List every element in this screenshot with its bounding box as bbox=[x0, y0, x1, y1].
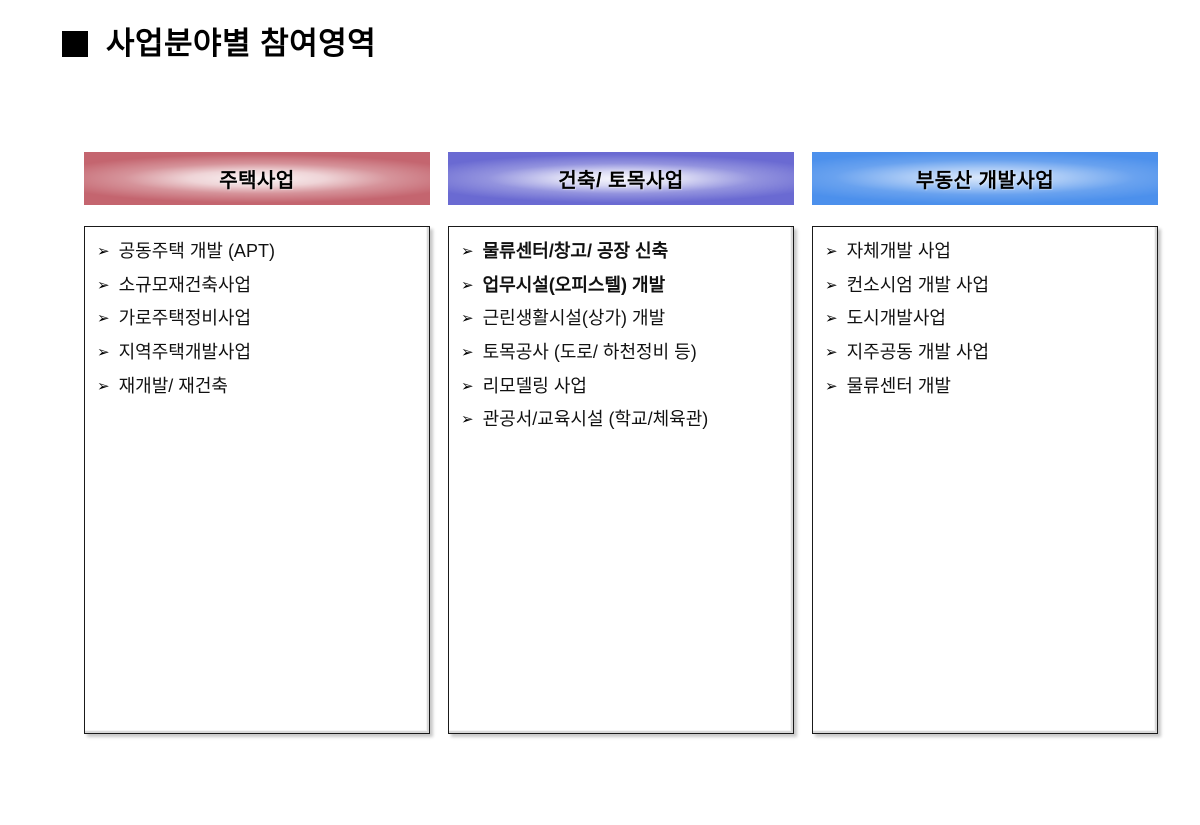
list-item-label: 가로주택정비사업 bbox=[119, 308, 251, 329]
list-item-label: 관공서/교육시설 (학교/체육관) bbox=[483, 409, 709, 430]
header-body-spacer bbox=[84, 205, 430, 226]
page-title-text: 사업분야별 참여영역 bbox=[106, 28, 376, 59]
arrow-bullet-icon: ➢ bbox=[461, 244, 474, 259]
list-item[interactable]: ➢ 리모델링 사업 bbox=[461, 376, 783, 397]
list-item[interactable]: ➢ 관공서/교육시설 (학교/체육관) bbox=[461, 409, 783, 430]
list-item-label: 물류센터 개발 bbox=[847, 376, 951, 397]
list-item-label: 자체개발 사업 bbox=[847, 241, 951, 262]
list-item[interactable]: ➢ 근린생활시설(상가) 개발 bbox=[461, 308, 783, 329]
header-body-spacer bbox=[812, 205, 1158, 226]
item-list-real-estate-development: ➢ 자체개발 사업 ➢ 컨소시엄 개발 사업 ➢ 도시개발사업 ➢ 지주공동 개… bbox=[825, 241, 1147, 396]
list-item-label: 지역주택개발사업 bbox=[119, 342, 251, 363]
arrow-bullet-icon: ➢ bbox=[97, 278, 110, 293]
column-header-housing: 주택사업 bbox=[84, 152, 430, 205]
list-item[interactable]: ➢ 물류센터 개발 bbox=[825, 376, 1147, 397]
column-header-real-estate-development: 부동산 개발사업 bbox=[812, 152, 1158, 205]
arrow-bullet-icon: ➢ bbox=[461, 345, 474, 360]
arrow-bullet-icon: ➢ bbox=[825, 379, 838, 394]
column-body-housing: ➢ 공동주택 개발 (APT) ➢ 소규모재건축사업 ➢ 가로주택정비사업 ➢ … bbox=[84, 226, 430, 734]
header-body-spacer bbox=[448, 205, 794, 226]
arrow-bullet-icon: ➢ bbox=[825, 311, 838, 326]
column-header-label: 주택사업 bbox=[219, 164, 295, 193]
column-construction-civil: 건축/ 토목사업 ➢ 물류센터/창고/ 공장 신축 ➢ 업무시설(오피스텔) 개… bbox=[448, 152, 794, 734]
column-header-label: 부동산 개발사업 bbox=[916, 164, 1054, 193]
list-item[interactable]: ➢ 재개발/ 재건축 bbox=[97, 376, 419, 397]
list-item[interactable]: ➢ 지역주택개발사업 bbox=[97, 342, 419, 363]
list-item[interactable]: ➢ 공동주택 개발 (APT) bbox=[97, 241, 419, 262]
list-item-label: 재개발/ 재건축 bbox=[119, 376, 228, 397]
arrow-bullet-icon: ➢ bbox=[461, 278, 474, 293]
list-item-label: 물류센터/창고/ 공장 신축 bbox=[483, 241, 669, 262]
list-item[interactable]: ➢ 가로주택정비사업 bbox=[97, 308, 419, 329]
list-item-label: 리모델링 사업 bbox=[483, 376, 587, 397]
arrow-bullet-icon: ➢ bbox=[461, 311, 474, 326]
list-item[interactable]: ➢ 자체개발 사업 bbox=[825, 241, 1147, 262]
business-area-columns: 주택사업 ➢ 공동주택 개발 (APT) ➢ 소규모재건축사업 ➢ 가로주택정비… bbox=[84, 152, 1158, 734]
arrow-bullet-icon: ➢ bbox=[97, 345, 110, 360]
list-item-label: 업무시설(오피스텔) 개발 bbox=[483, 275, 666, 296]
item-list-housing: ➢ 공동주택 개발 (APT) ➢ 소규모재건축사업 ➢ 가로주택정비사업 ➢ … bbox=[97, 241, 419, 396]
item-list-construction-civil: ➢ 물류센터/창고/ 공장 신축 ➢ 업무시설(오피스텔) 개발 ➢ 근린생활시… bbox=[461, 241, 783, 430]
arrow-bullet-icon: ➢ bbox=[825, 345, 838, 360]
black-square-icon bbox=[62, 31, 88, 57]
list-item-label: 소규모재건축사업 bbox=[119, 275, 251, 296]
column-real-estate-development: 부동산 개발사업 ➢ 자체개발 사업 ➢ 컨소시엄 개발 사업 ➢ 도시개발사업… bbox=[812, 152, 1158, 734]
list-item[interactable]: ➢ 도시개발사업 bbox=[825, 308, 1147, 329]
list-item-label: 도시개발사업 bbox=[847, 308, 946, 329]
arrow-bullet-icon: ➢ bbox=[97, 311, 110, 326]
arrow-bullet-icon: ➢ bbox=[461, 412, 474, 427]
list-item[interactable]: ➢ 지주공동 개발 사업 bbox=[825, 342, 1147, 363]
arrow-bullet-icon: ➢ bbox=[97, 244, 110, 259]
arrow-bullet-icon: ➢ bbox=[825, 244, 838, 259]
list-item-label: 근린생활시설(상가) 개발 bbox=[483, 308, 666, 329]
arrow-bullet-icon: ➢ bbox=[97, 379, 110, 394]
list-item[interactable]: ➢ 컨소시엄 개발 사업 bbox=[825, 275, 1147, 296]
list-item-label: 공동주택 개발 (APT) bbox=[119, 241, 275, 262]
column-housing: 주택사업 ➢ 공동주택 개발 (APT) ➢ 소규모재건축사업 ➢ 가로주택정비… bbox=[84, 152, 430, 734]
list-item[interactable]: ➢ 물류센터/창고/ 공장 신축 bbox=[461, 241, 783, 262]
arrow-bullet-icon: ➢ bbox=[825, 278, 838, 293]
list-item[interactable]: ➢ 토목공사 (도로/ 하천정비 등) bbox=[461, 342, 783, 363]
column-header-label: 건축/ 토목사업 bbox=[558, 164, 684, 193]
list-item[interactable]: ➢ 소규모재건축사업 bbox=[97, 275, 419, 296]
list-item-label: 컨소시엄 개발 사업 bbox=[847, 275, 989, 296]
column-body-construction-civil: ➢ 물류센터/창고/ 공장 신축 ➢ 업무시설(오피스텔) 개발 ➢ 근린생활시… bbox=[448, 226, 794, 734]
column-body-real-estate-development: ➢ 자체개발 사업 ➢ 컨소시엄 개발 사업 ➢ 도시개발사업 ➢ 지주공동 개… bbox=[812, 226, 1158, 734]
list-item-label: 토목공사 (도로/ 하천정비 등) bbox=[483, 342, 697, 363]
page-title: 사업분야별 참여영역 bbox=[62, 28, 376, 59]
list-item[interactable]: ➢ 업무시설(오피스텔) 개발 bbox=[461, 275, 783, 296]
arrow-bullet-icon: ➢ bbox=[461, 379, 474, 394]
column-header-construction-civil: 건축/ 토목사업 bbox=[448, 152, 794, 205]
list-item-label: 지주공동 개발 사업 bbox=[847, 342, 989, 363]
